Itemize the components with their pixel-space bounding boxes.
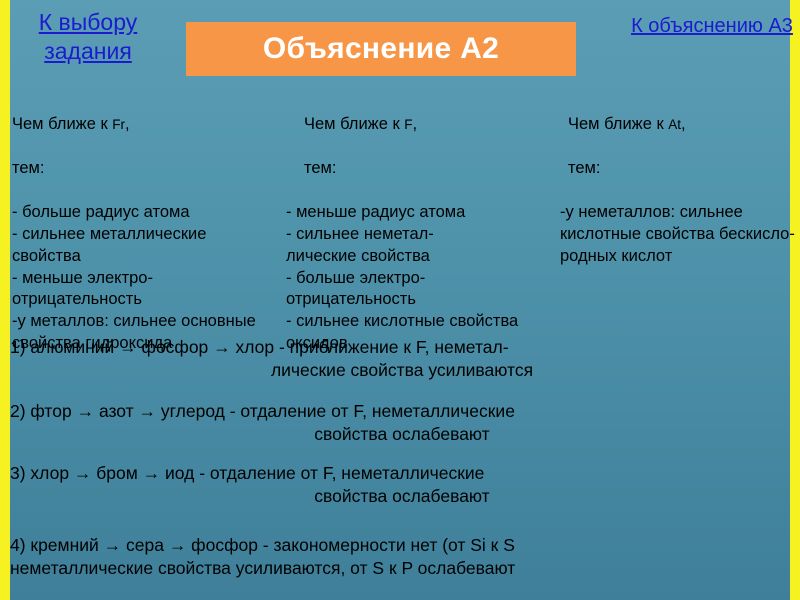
example-row: 3) хлор → бром → иод - отдаление от F, н… xyxy=(10,462,794,508)
left-border-stripe xyxy=(0,0,10,600)
example-row: 2) фтор → азот → углерод - отдаление от … xyxy=(10,400,794,446)
column-f-heading: Чем ближе к F, xyxy=(304,114,526,136)
column-f-body: - меньше радиус атома - сильнее неметал-… xyxy=(286,202,526,356)
column-fr: Чем ближе к Fr, тем: - больше радиус ато… xyxy=(12,92,262,377)
column-f: Чем ближе к F, тем: - меньше радиус атом… xyxy=(286,92,526,377)
column-at-body: -у неметаллов: сильнее кислотные свойств… xyxy=(560,202,796,268)
example-line-1: 4) кремний → сера → фосфор - закономерно… xyxy=(10,534,794,557)
example-line-1: 3) хлор → бром → иод - отдаление от F, н… xyxy=(10,462,794,485)
column-fr-body: - больше радиус атома - сильнее металлич… xyxy=(12,202,262,356)
link-to-explanation-a3[interactable]: К объяснению А3 xyxy=(628,14,796,39)
example-line-2: неметаллические свойства усиливаются, от… xyxy=(10,557,794,580)
column-at-subheading: тем: xyxy=(568,158,796,180)
right-border-stripe xyxy=(790,0,800,600)
example-row: 1) алюминий → фосфор → хлор - приближени… xyxy=(10,336,794,382)
slide-canvas: К выбору задания К объяснению А3 Объясне… xyxy=(0,0,800,600)
column-at: Чем ближе к At, тем: -у неметаллов: силь… xyxy=(560,92,796,289)
column-at-heading: Чем ближе к At, xyxy=(568,114,796,136)
slide-title: Объяснение А2 xyxy=(263,32,499,66)
column-fr-subheading: тем: xyxy=(12,158,262,180)
example-line-2: свойства ослабевают xyxy=(10,485,794,508)
example-line-2: свойства ослабевают xyxy=(10,423,794,446)
slide-title-box: Объяснение А2 xyxy=(186,22,576,76)
link-to-task-selection[interactable]: К выбору задания xyxy=(8,8,168,65)
example-line-2: лические свойства усиливаются xyxy=(10,359,794,382)
example-line-1: 2) фтор → азот → углерод - отдаление от … xyxy=(10,400,794,423)
column-f-subheading: тем: xyxy=(304,158,526,180)
column-fr-heading: Чем ближе к Fr, xyxy=(12,114,262,136)
example-line-1: 1) алюминий → фосфор → хлор - приближени… xyxy=(10,336,794,359)
example-row: 4) кремний → сера → фосфор - закономерно… xyxy=(10,534,794,580)
